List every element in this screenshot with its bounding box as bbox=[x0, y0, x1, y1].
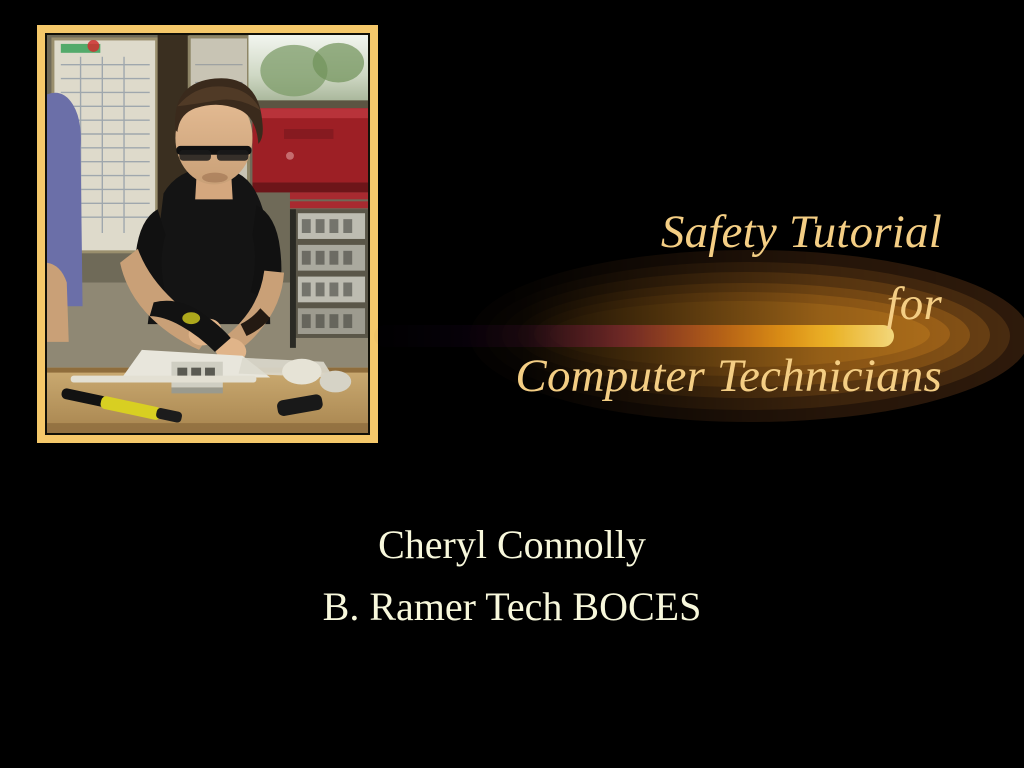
slide-canvas: Safety Tutorial for Computer Technicians… bbox=[0, 0, 1024, 768]
title-line-1: Safety Tutorial bbox=[300, 196, 942, 268]
title-line-3: Computer Technicians bbox=[300, 340, 942, 412]
author-name: Cheryl Connolly bbox=[0, 514, 1024, 576]
author-organization: B. Ramer Tech BOCES bbox=[0, 576, 1024, 638]
title-line-2: for bbox=[300, 268, 942, 340]
slide-subtitle: Cheryl Connolly B. Ramer Tech BOCES bbox=[0, 514, 1024, 638]
slide-title: Safety Tutorial for Computer Technicians bbox=[300, 196, 942, 412]
